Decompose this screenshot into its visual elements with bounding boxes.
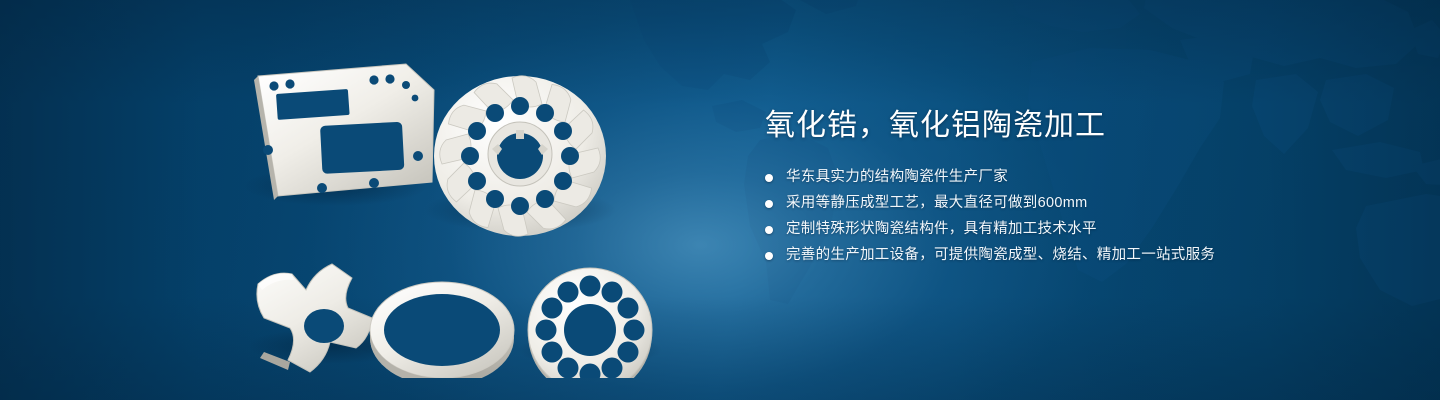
feature-text: 华东具实力的结构陶瓷件生产厂家 [786,166,1008,189]
feature-text: 定制特殊形状陶瓷结构件，具有精加工技术水平 [786,218,1097,241]
list-item: 完善的生产加工设备，可提供陶瓷成型、烧结、精加工一站式服务 [765,244,1385,267]
bullet-dot-icon [765,226,773,234]
bullet-dot-icon [765,252,773,260]
ceramic-flat-plate [254,64,434,200]
product-photo-group [238,38,698,378]
banner-copy: 氧化锆，氧化铝陶瓷加工 华东具实力的结构陶瓷件生产厂家 采用等静压成型工艺，最大… [765,106,1385,270]
list-item: 华东具实力的结构陶瓷件生产厂家 [765,166,1385,189]
feature-list: 华东具实力的结构陶瓷件生产厂家 采用等静压成型工艺，最大直径可做到600mm 定… [765,166,1385,267]
bullet-dot-icon [765,174,773,182]
hero-banner: 氧化锆，氧化铝陶瓷加工 华东具实力的结构陶瓷件生产厂家 采用等静压成型工艺，最大… [0,0,1440,400]
ceramic-impeller [434,76,606,237]
feature-text: 完善的生产加工设备，可提供陶瓷成型、烧结、精加工一站式服务 [786,244,1215,267]
list-item: 定制特殊形状陶瓷结构件，具有精加工技术水平 [765,218,1385,241]
bullet-dot-icon [765,200,773,208]
ceramic-perforated-disc [528,268,652,378]
banner-headline: 氧化锆，氧化铝陶瓷加工 [765,106,1385,146]
feature-text: 采用等静压成型工艺，最大直径可做到600mm [786,192,1087,215]
ceramic-ring [370,282,514,378]
list-item: 采用等静压成型工艺，最大直径可做到600mm [765,192,1385,215]
